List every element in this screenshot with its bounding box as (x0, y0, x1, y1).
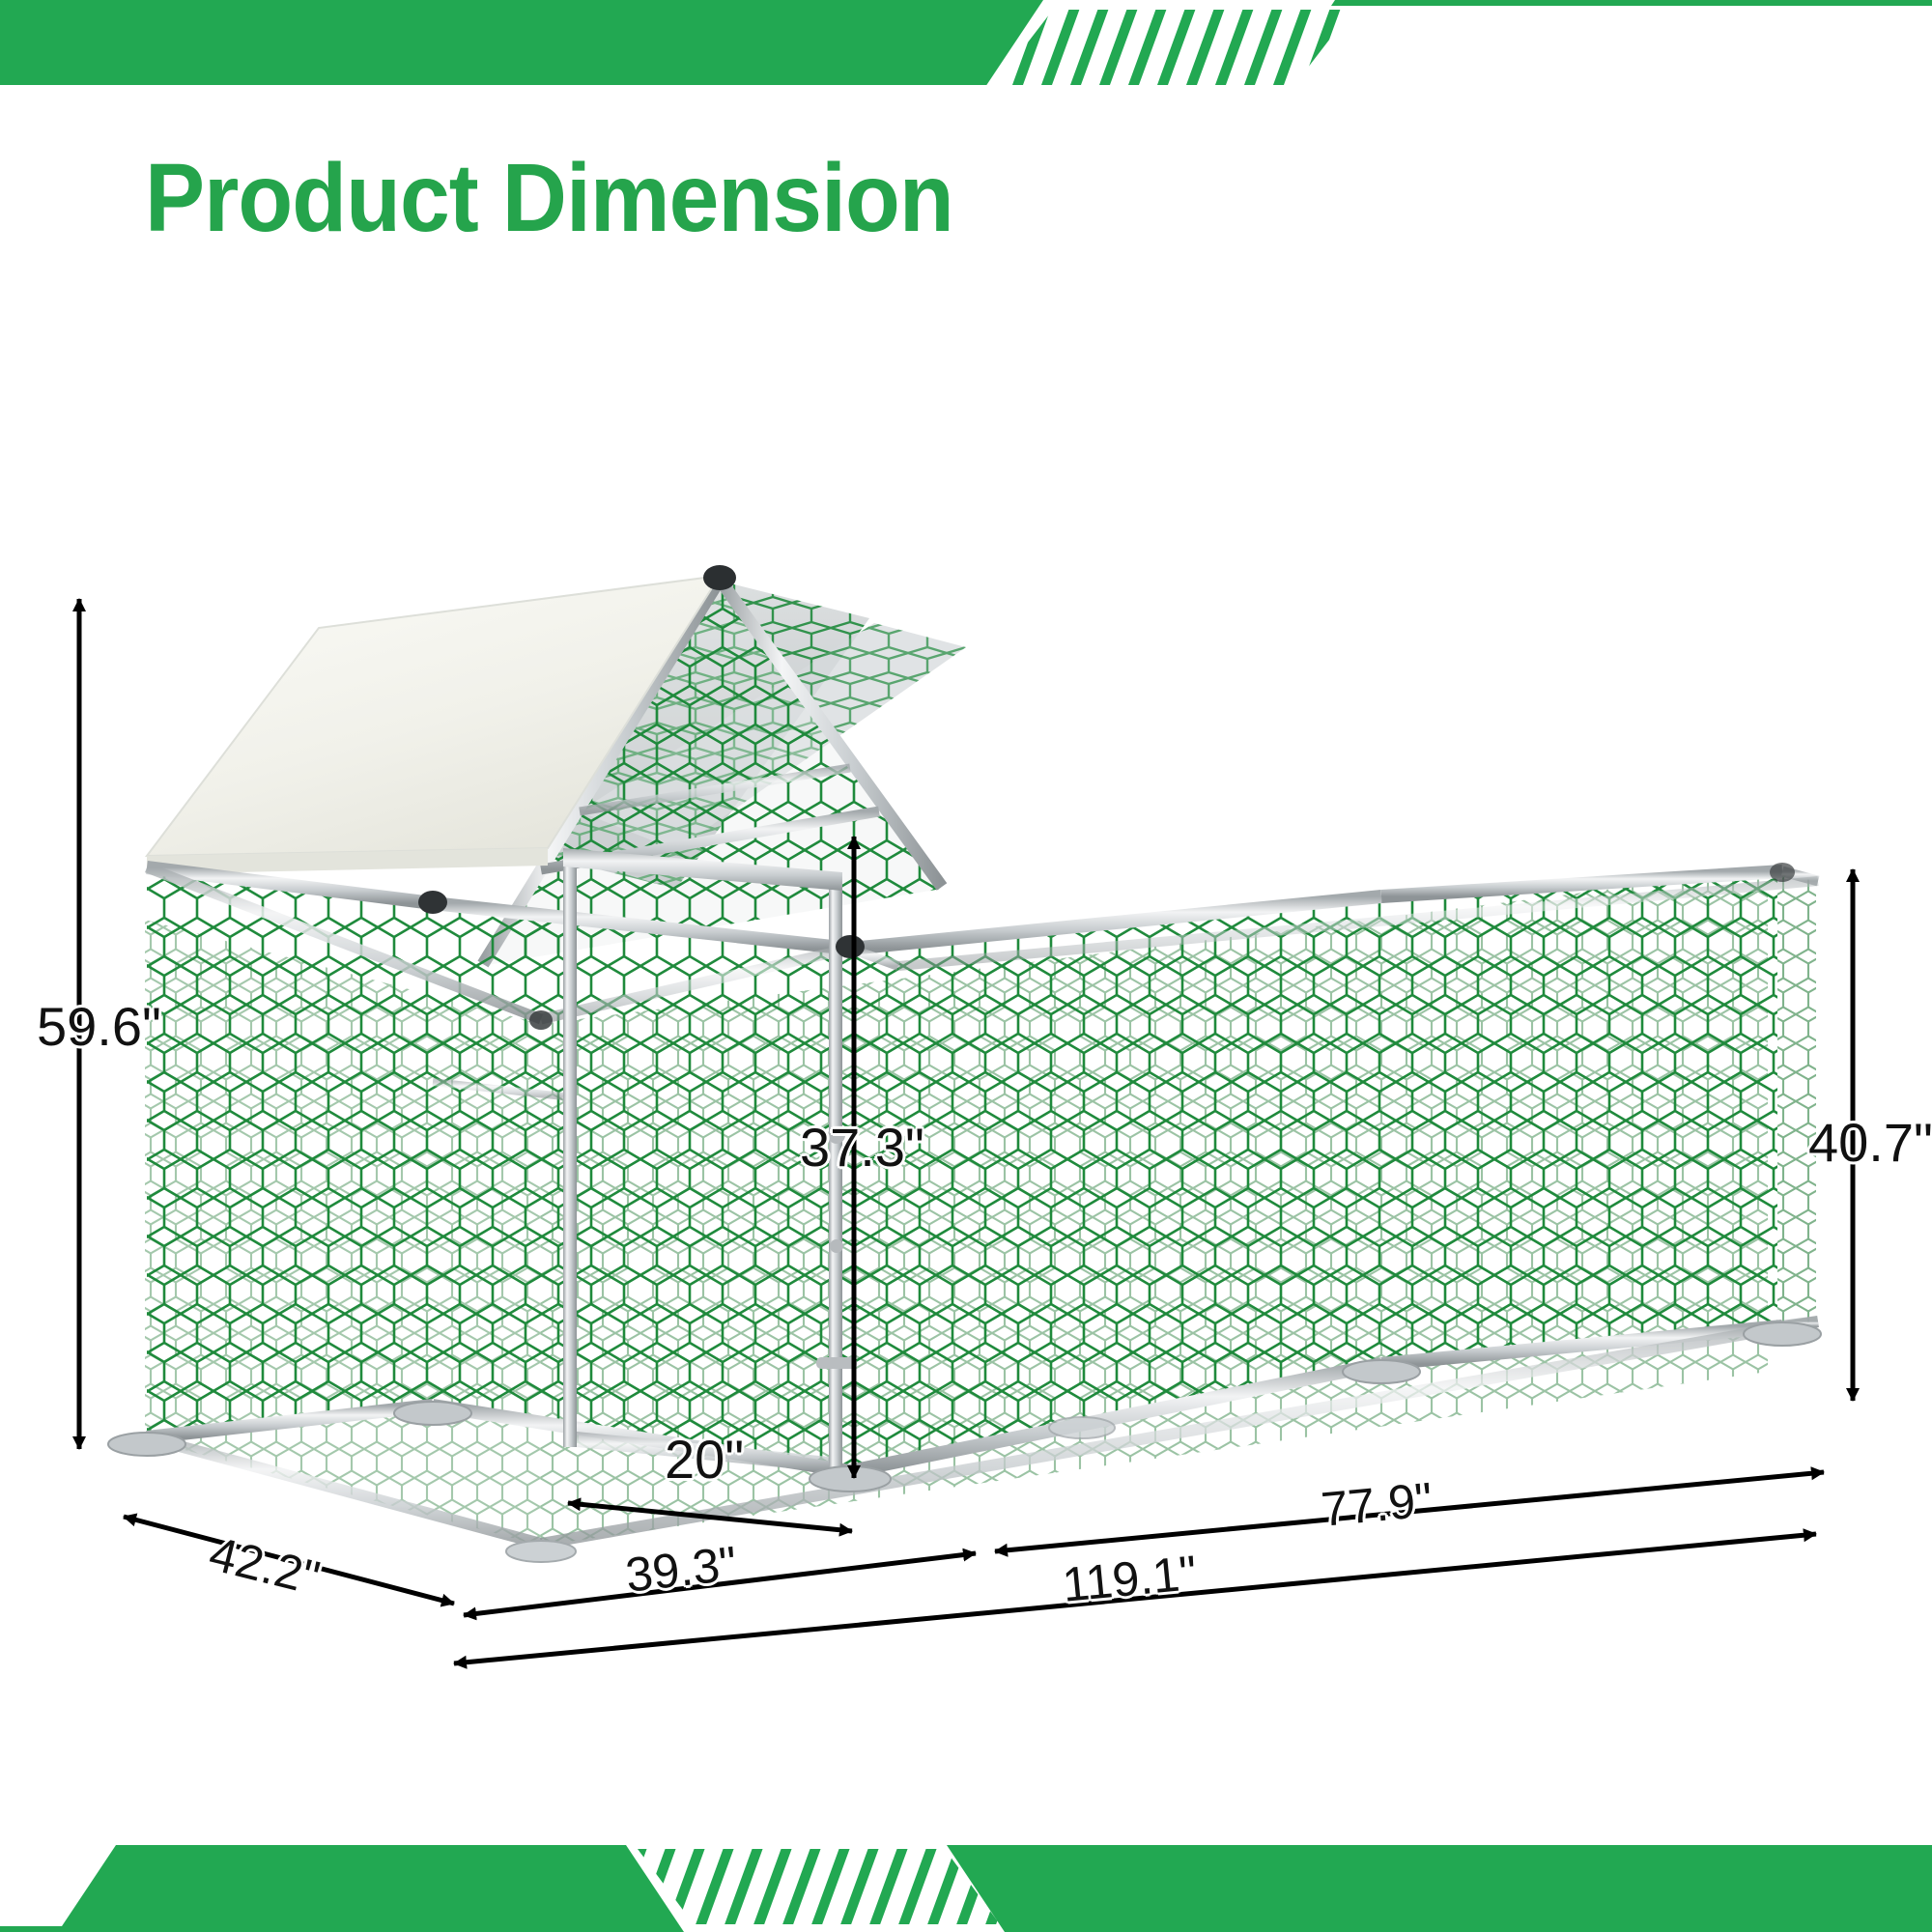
dim-label-door-width: 20" (665, 1428, 744, 1491)
dim-label-run-height: 40.7" (1808, 1111, 1932, 1174)
coop-body (108, 565, 1821, 1562)
dim-label-door-height: 37.3" (800, 1116, 924, 1179)
dim-label-run-length: 77.9" (1319, 1471, 1435, 1538)
bottom-green-banner (0, 1845, 1932, 1932)
dim-label-overall-height: 59.6" (37, 995, 161, 1058)
product-illustration (0, 0, 1932, 1932)
